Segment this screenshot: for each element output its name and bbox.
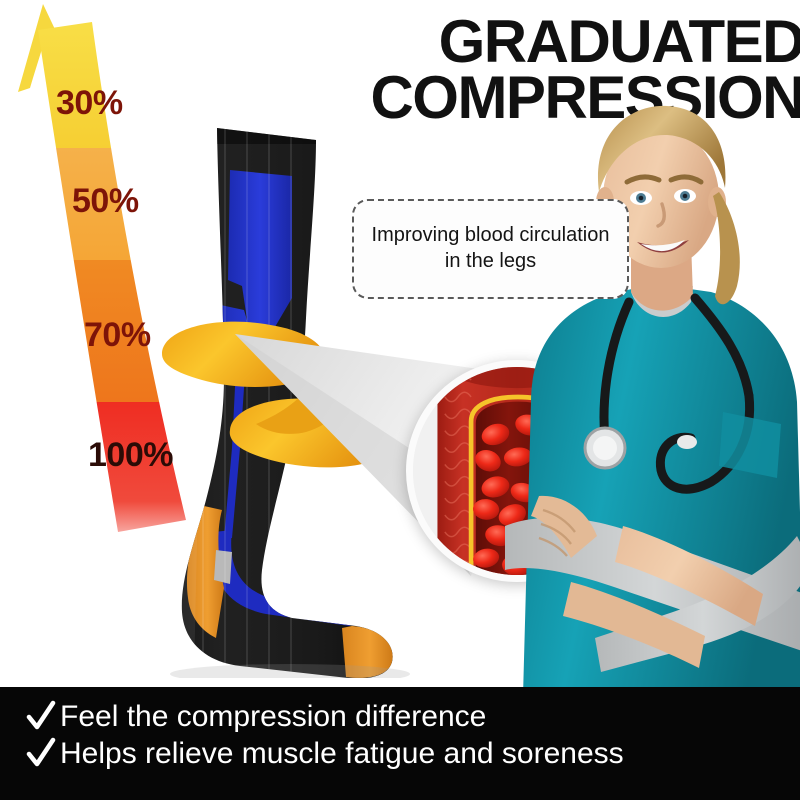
- benefit-text-1: Feel the compression difference: [60, 701, 486, 733]
- stethoscope-earpiece: [677, 435, 697, 449]
- nurse-photo: [505, 96, 800, 696]
- check-icon: [26, 737, 56, 771]
- benefit-text-2: Helps relieve muscle fatigue and sorenes…: [60, 738, 624, 770]
- check-icon: [26, 700, 56, 734]
- callout-text: Improving blood circulation in the legs: [364, 223, 617, 274]
- nurse-ponytail: [713, 192, 740, 304]
- pressure-label-30: 30%: [56, 86, 123, 120]
- benefits-banner: Feel the compression difference Helps re…: [0, 687, 800, 800]
- benefit-item-2: Helps relieve muscle fatigue and sorenes…: [26, 737, 800, 771]
- benefit-item-1: Feel the compression difference: [26, 700, 800, 734]
- callout-box: Improving blood circulation in the legs: [352, 199, 629, 299]
- sock-cuff: [180, 118, 410, 144]
- title-line-graduated: GRADUATED: [370, 14, 800, 70]
- product-marketing-image: 30% 50% 70% 100% GRADUATED COMPRESSION: [0, 0, 800, 800]
